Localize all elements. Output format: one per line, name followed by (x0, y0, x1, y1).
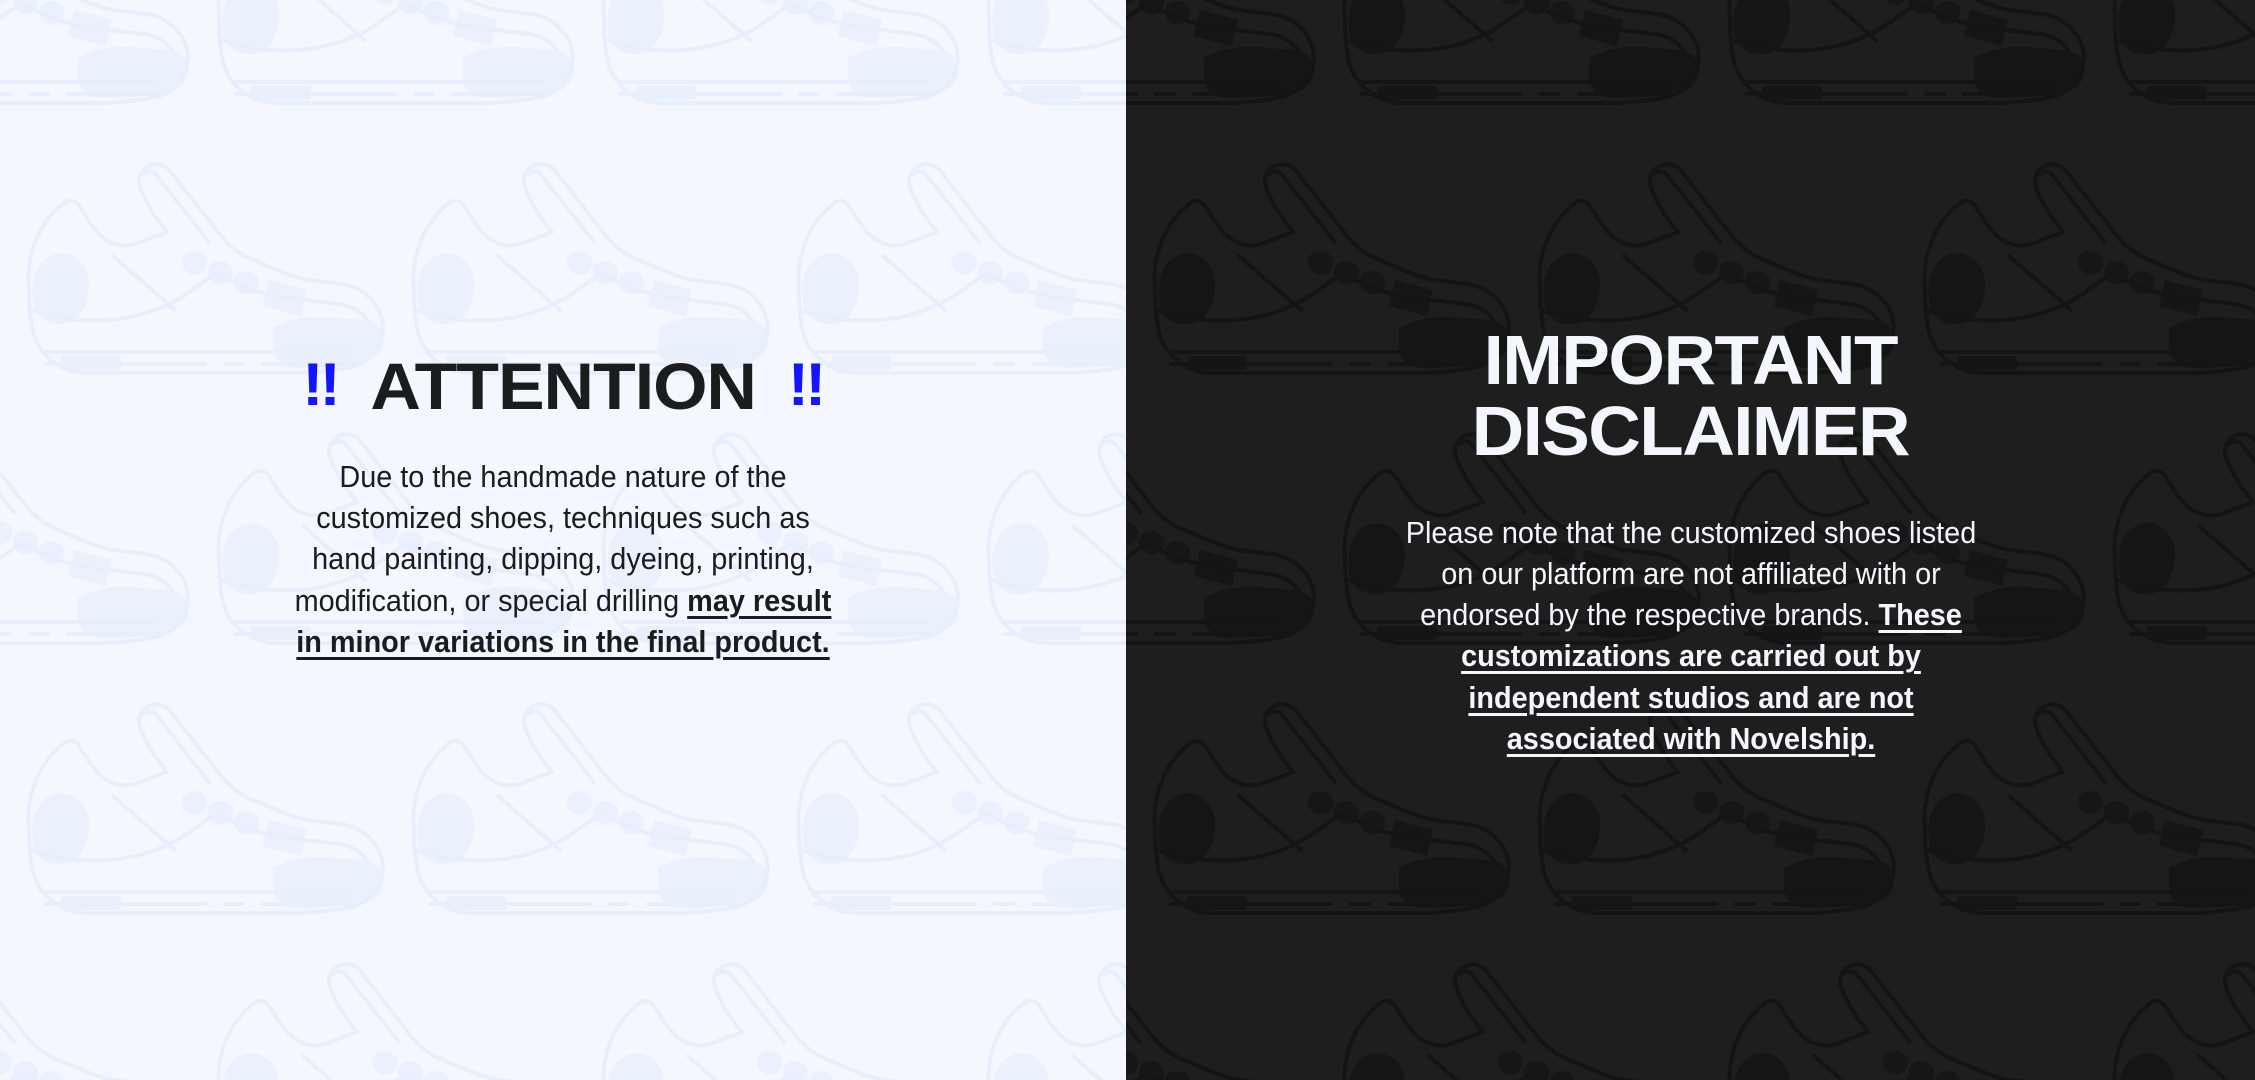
disclaimer-heading-line-2: DISCLAIMER (1472, 396, 1909, 467)
disclaimer-content: IMPORTANT DISCLAIMER Please note that th… (1126, 0, 2255, 1080)
disclaimer-banner: ‼ ATTENTION ‼ Due to the handmade nature… (0, 0, 2255, 1080)
double-exclamation-icon-right: ‼ (788, 355, 824, 415)
attention-heading-word: ATTENTION (370, 353, 756, 419)
attention-content: ‼ ATTENTION ‼ Due to the handmade nature… (0, 0, 1126, 1080)
double-exclamation-icon-left: ‼ (302, 355, 338, 415)
disclaimer-body: Please note that the customized shoes li… (1402, 512, 1979, 759)
disclaimer-panel: IMPORTANT DISCLAIMER Please note that th… (1126, 0, 2255, 1080)
attention-heading: ‼ ATTENTION ‼ (302, 353, 824, 419)
attention-panel: ‼ ATTENTION ‼ Due to the handmade nature… (0, 0, 1126, 1080)
disclaimer-heading-line-1: IMPORTANT (1472, 325, 1909, 396)
disclaimer-heading: IMPORTANT DISCLAIMER (1472, 325, 1909, 468)
attention-body: Due to the handmade nature of the custom… (284, 456, 842, 662)
